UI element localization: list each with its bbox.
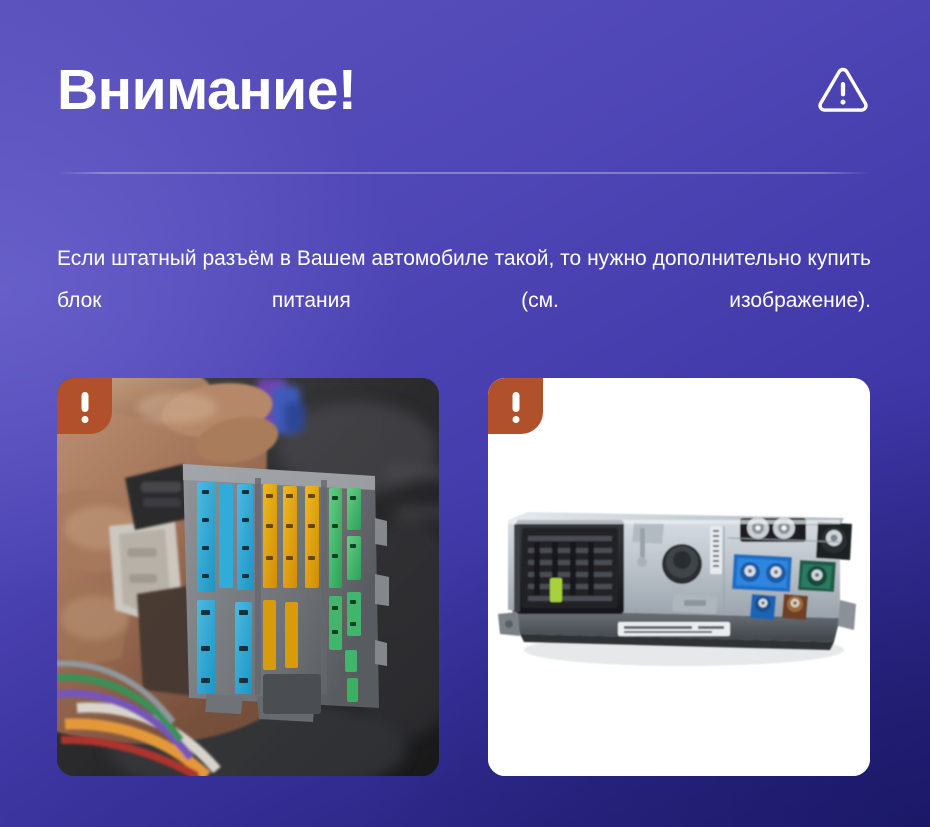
- header-divider: [57, 172, 870, 174]
- power-supply-photo: [488, 378, 870, 776]
- card-oem-connector[interactable]: [57, 378, 439, 776]
- warning-banner: Внимание! Если штатный разъём в Вашем ав…: [0, 0, 930, 827]
- warning-triangle-icon: [815, 62, 871, 118]
- header: Внимание!: [57, 52, 871, 128]
- warning-paragraph: Если штатный разъём в Вашем автомобиле т…: [57, 238, 871, 364]
- card-power-supply[interactable]: [488, 378, 870, 776]
- oem-connector-photo: [57, 378, 439, 776]
- exclamation-badge-icon: [488, 378, 543, 434]
- exclamation-badge-icon: [57, 378, 112, 434]
- page-title: Внимание!: [57, 62, 356, 119]
- image-card-row: [57, 378, 870, 776]
